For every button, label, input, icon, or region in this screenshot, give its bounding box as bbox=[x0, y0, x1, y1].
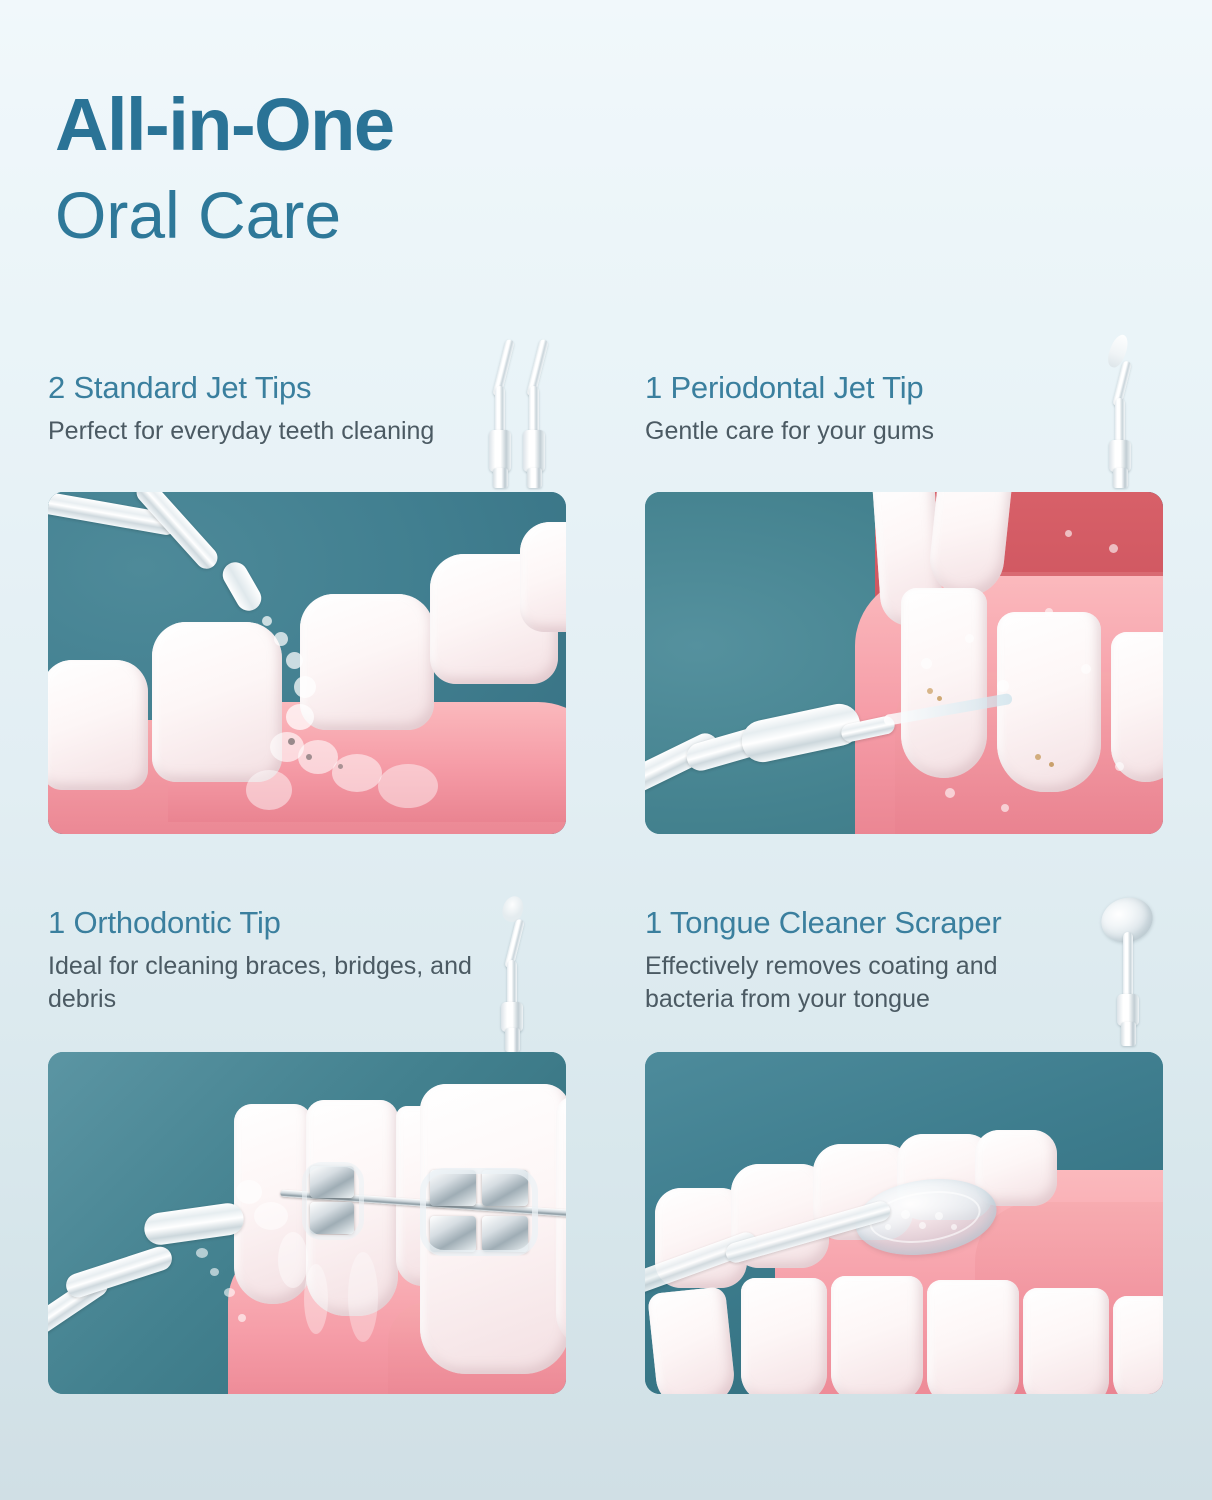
feature-subtext: Perfect for everyday teeth cleaning bbox=[48, 415, 518, 448]
title-line-1: All-in-One bbox=[55, 88, 394, 162]
feature-subtext: Gentle care for your gums bbox=[645, 415, 1165, 448]
photo-orthodontic-tip bbox=[48, 1052, 566, 1394]
page-title: All-in-One Oral Care bbox=[55, 88, 394, 248]
feature-subtext: Ideal for cleaning braces, bridges, and … bbox=[48, 950, 518, 1016]
orthodontic-tip-icon bbox=[482, 896, 554, 1054]
periodontal-jet-tip-icon bbox=[1090, 332, 1162, 490]
tongue-scraper-icon bbox=[1085, 896, 1175, 1056]
feature-periodontal-jet-tip: 1 Periodontal Jet Tip Gentle care for yo… bbox=[645, 370, 1165, 448]
feature-subtext: Effectively removes coating and bacteria… bbox=[645, 950, 1090, 1016]
photo-periodontal-jet-tip bbox=[645, 492, 1163, 834]
feature-heading: 1 Periodontal Jet Tip bbox=[645, 370, 1165, 406]
photo-standard-jet-tips bbox=[48, 492, 566, 834]
photo-tongue-cleaner-scraper bbox=[645, 1052, 1163, 1394]
standard-jet-tip-icon bbox=[470, 332, 575, 490]
title-line-2: Oral Care bbox=[55, 182, 394, 248]
